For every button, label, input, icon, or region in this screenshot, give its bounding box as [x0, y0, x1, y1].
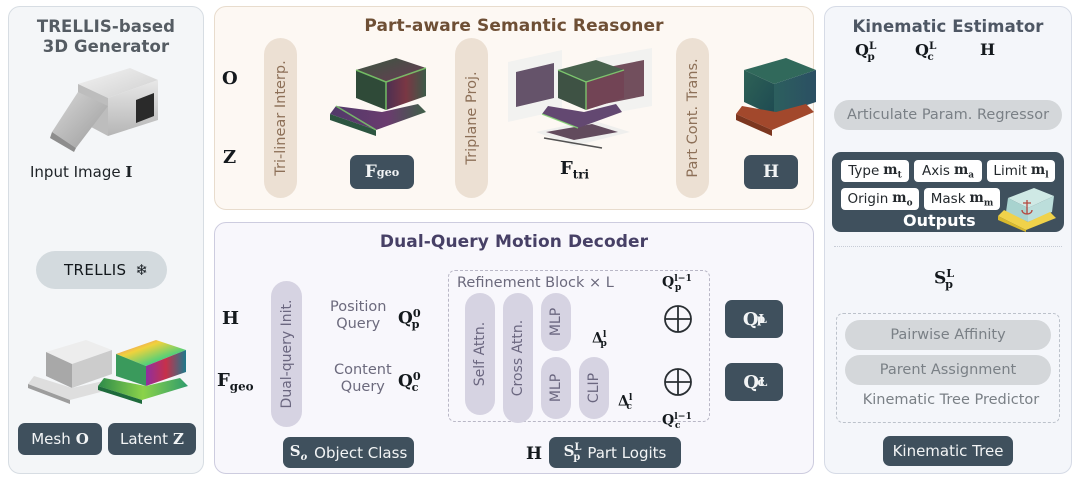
output-chip-mask-symbol: m: [970, 190, 984, 206]
ftri-symbol: F: [560, 158, 573, 179]
input-image-thumbnail: [38, 62, 164, 152]
part-logits-box[interactable]: SLp Part Logits: [549, 437, 681, 468]
qpL-output-box[interactable]: QLp: [725, 300, 783, 338]
output-chip-origin[interactable]: Origin mo: [841, 188, 919, 210]
latent-output-box[interactable]: Latent Z: [108, 423, 196, 455]
articulate-param-regressor-block[interactable]: Articulate Param. Regressor: [834, 100, 1062, 130]
decoder-input-h: H: [222, 308, 239, 329]
clip-label: CLIP: [586, 373, 602, 403]
decoder-input-fgeo-subscript: geo: [230, 380, 254, 394]
object-class-symbol: S: [290, 442, 301, 460]
fgeo-thumbnail: [322, 52, 448, 152]
outputs-title: Outputs: [903, 211, 976, 230]
input-image-caption-text: Input Image: [30, 163, 121, 181]
qp0-label: Q0p: [398, 306, 419, 331]
output-chip-axis[interactable]: Axis ma: [914, 160, 982, 182]
qc-prev-label: Ql−1c: [662, 411, 681, 431]
h-output-box[interactable]: H: [744, 155, 798, 189]
mlp-content-label: MLP: [548, 374, 564, 402]
decoder-input-fgeo-symbol: F: [217, 370, 230, 391]
qp-prev-symbol: Q: [662, 275, 674, 291]
refinement-block-title: Refinement Block × L: [457, 275, 614, 291]
position-query-label: Position Query: [330, 299, 386, 333]
generator-title-line1: TRELLIS-based: [37, 17, 175, 36]
mesh-output-label: Mesh: [31, 430, 71, 448]
mlp-content-block[interactable]: MLP: [541, 357, 571, 419]
panel-title-generator: TRELLIS-based 3D Generator: [9, 17, 203, 57]
trellis-model-label: TRELLIS: [64, 261, 127, 279]
object-class-box[interactable]: So Object Class: [283, 437, 414, 468]
generator-title-line2: 3D Generator: [43, 37, 169, 56]
position-query-line2: Query: [336, 316, 380, 332]
stage-trilinear-interp[interactable]: Tri-linear Interp.: [264, 38, 297, 198]
output-chip-limit-label: Limit: [993, 163, 1026, 179]
delta-p-label: Δlp: [592, 329, 607, 349]
dual-query-init-label: Dual-query Init.: [279, 300, 295, 409]
qpL-subscript: p: [757, 312, 765, 326]
delta-p-subscript: p: [600, 338, 606, 349]
object-class-subscript: o: [301, 452, 308, 463]
qp-prev-label: Ql−1p: [662, 273, 681, 293]
h-mesh-thumbnail: [728, 48, 838, 148]
stage-part-cont-trans[interactable]: Part Cont. Trans.: [676, 38, 709, 198]
parent-assignment-label: Parent Assignment: [880, 362, 1016, 378]
sp-logits-label: SLp: [934, 266, 953, 291]
output-chip-type[interactable]: Type mt: [841, 160, 909, 182]
mlp-position-label: MLP: [548, 308, 564, 336]
qcL-subscript: c: [757, 375, 764, 389]
panel-title-semantic: Part-aware Semantic Reasoner: [215, 16, 813, 36]
output-chip-origin-symbol: m: [892, 190, 906, 206]
section-divider: [834, 246, 1062, 247]
latent-output-symbol: Z: [173, 430, 184, 448]
output-chip-axis-subscript: a: [968, 170, 974, 180]
latent-output-label: Latent: [120, 430, 168, 448]
ftri-thumbnail: [500, 40, 666, 160]
kin-input-qp: QLp: [855, 40, 875, 63]
output-chip-mask-label: Mask: [931, 191, 966, 207]
parent-assignment-block[interactable]: Parent Assignment: [845, 355, 1051, 385]
position-query-line1: Position: [330, 299, 386, 315]
output-chip-type-symbol: m: [883, 162, 897, 178]
output-chip-origin-label: Origin: [847, 191, 888, 207]
sp-subscript: p: [945, 277, 953, 291]
qp-prev-subscript: p: [675, 282, 681, 293]
output-chip-limit-symbol: m: [1031, 162, 1045, 178]
qc-prev-subscript: c: [675, 420, 681, 431]
qc-prev-symbol: Q: [662, 413, 674, 429]
fgeo-box[interactable]: Fgeo: [350, 155, 414, 189]
output-chip-mask-subscript: m: [984, 198, 993, 208]
dual-query-init-block[interactable]: Dual-query Init.: [271, 281, 302, 427]
kin-input-qp-subscript: p: [867, 51, 874, 63]
self-attention-block[interactable]: Self Attn.: [465, 293, 495, 415]
snowflake-icon: ❄: [135, 261, 148, 279]
part-logits-subscript: p: [573, 452, 580, 463]
mesh-output-symbol: O: [76, 430, 89, 448]
fgeo-symbol: F: [365, 162, 377, 182]
h-output-symbol: H: [763, 162, 779, 182]
latent-thumbnail: [94, 334, 194, 406]
delta-c-label: Δlc: [618, 392, 632, 412]
pairwise-affinity-block[interactable]: Pairwise Affinity: [845, 320, 1051, 350]
h-into-cross-attn-label: H: [526, 444, 542, 464]
cross-attention-label: Cross Attn.: [510, 320, 526, 396]
articulated-box-thumbnail: [994, 182, 1060, 232]
qcL-output-box[interactable]: QLc: [725, 363, 783, 401]
qp0-symbol: Q: [398, 309, 413, 329]
circled-plus-icon: [662, 303, 694, 335]
trellis-model-block[interactable]: TRELLIS ❄: [36, 251, 167, 289]
input-image-caption: Input Image I: [30, 163, 132, 181]
output-chip-type-label: Type: [848, 163, 879, 179]
output-chip-mask[interactable]: Mask mm: [924, 188, 1000, 210]
stage-triplane-proj-label: Triplane Proj.: [464, 71, 480, 164]
output-chip-axis-symbol: m: [954, 162, 968, 178]
qc0-subscript: c: [412, 380, 419, 394]
kin-input-h: H: [980, 40, 995, 59]
self-attention-label: Self Attn.: [472, 322, 488, 386]
ftri-subscript: tri: [573, 168, 589, 182]
ftri-label: Ftri: [560, 158, 589, 182]
panel-title-kinematic: Kinematic Estimator: [825, 17, 1071, 36]
content-query-line2: Query: [341, 379, 385, 395]
output-chip-limit-subscript: l: [1045, 170, 1048, 180]
delta-c-subscript: c: [626, 401, 632, 412]
circled-plus-icon-2: [662, 366, 694, 398]
kin-input-qc: QLc: [915, 40, 934, 63]
kinematic-tree-output-label: Kinematic Tree: [893, 442, 1004, 460]
clip-block[interactable]: CLIP: [579, 357, 609, 419]
qc0-symbol: Q: [398, 372, 413, 392]
cross-attention-block[interactable]: Cross Attn.: [503, 293, 533, 423]
articulate-param-regressor-label: Articulate Param. Regressor: [847, 107, 1049, 123]
part-logits-text: Part Logits: [587, 444, 666, 462]
stage-trilinear-interp-label: Tri-linear Interp.: [273, 60, 289, 175]
decoder-input-fgeo: Fgeo: [217, 370, 254, 394]
mlp-position-block[interactable]: MLP: [541, 293, 571, 351]
output-chip-limit[interactable]: Limit ml: [987, 160, 1055, 182]
kinematic-tree-predictor-label: Kinematic Tree Predictor: [851, 392, 1051, 408]
figure-root: TRELLIS-based 3D Generator Input Image I…: [0, 0, 1080, 480]
qp0-subscript: p: [412, 317, 420, 331]
qc0-label: Q0c: [398, 369, 418, 394]
output-chip-axis-label: Axis: [922, 163, 950, 179]
input-image-symbol: I: [125, 163, 132, 181]
stage-part-cont-trans-label: Part Cont. Trans.: [685, 58, 701, 177]
semantic-input-z: Z: [223, 147, 236, 168]
stage-triplane-proj[interactable]: Triplane Proj.: [455, 38, 488, 198]
pairwise-affinity-label: Pairwise Affinity: [890, 327, 1005, 343]
mesh-output-box[interactable]: Mesh O: [18, 423, 102, 455]
content-query-line1: Content: [334, 362, 392, 378]
kinematic-tree-output-box[interactable]: Kinematic Tree: [883, 436, 1013, 466]
object-class-text: Object Class: [314, 444, 407, 462]
kin-input-qc-subscript: c: [927, 51, 933, 63]
content-query-label: Content Query: [334, 362, 392, 396]
output-chip-origin-subscript: o: [907, 198, 913, 208]
fgeo-subscript: geo: [377, 165, 399, 179]
semantic-input-o: O: [222, 68, 238, 89]
output-chip-type-subscript: t: [898, 170, 902, 180]
panel-title-decoder: Dual-Query Motion Decoder: [215, 232, 813, 252]
